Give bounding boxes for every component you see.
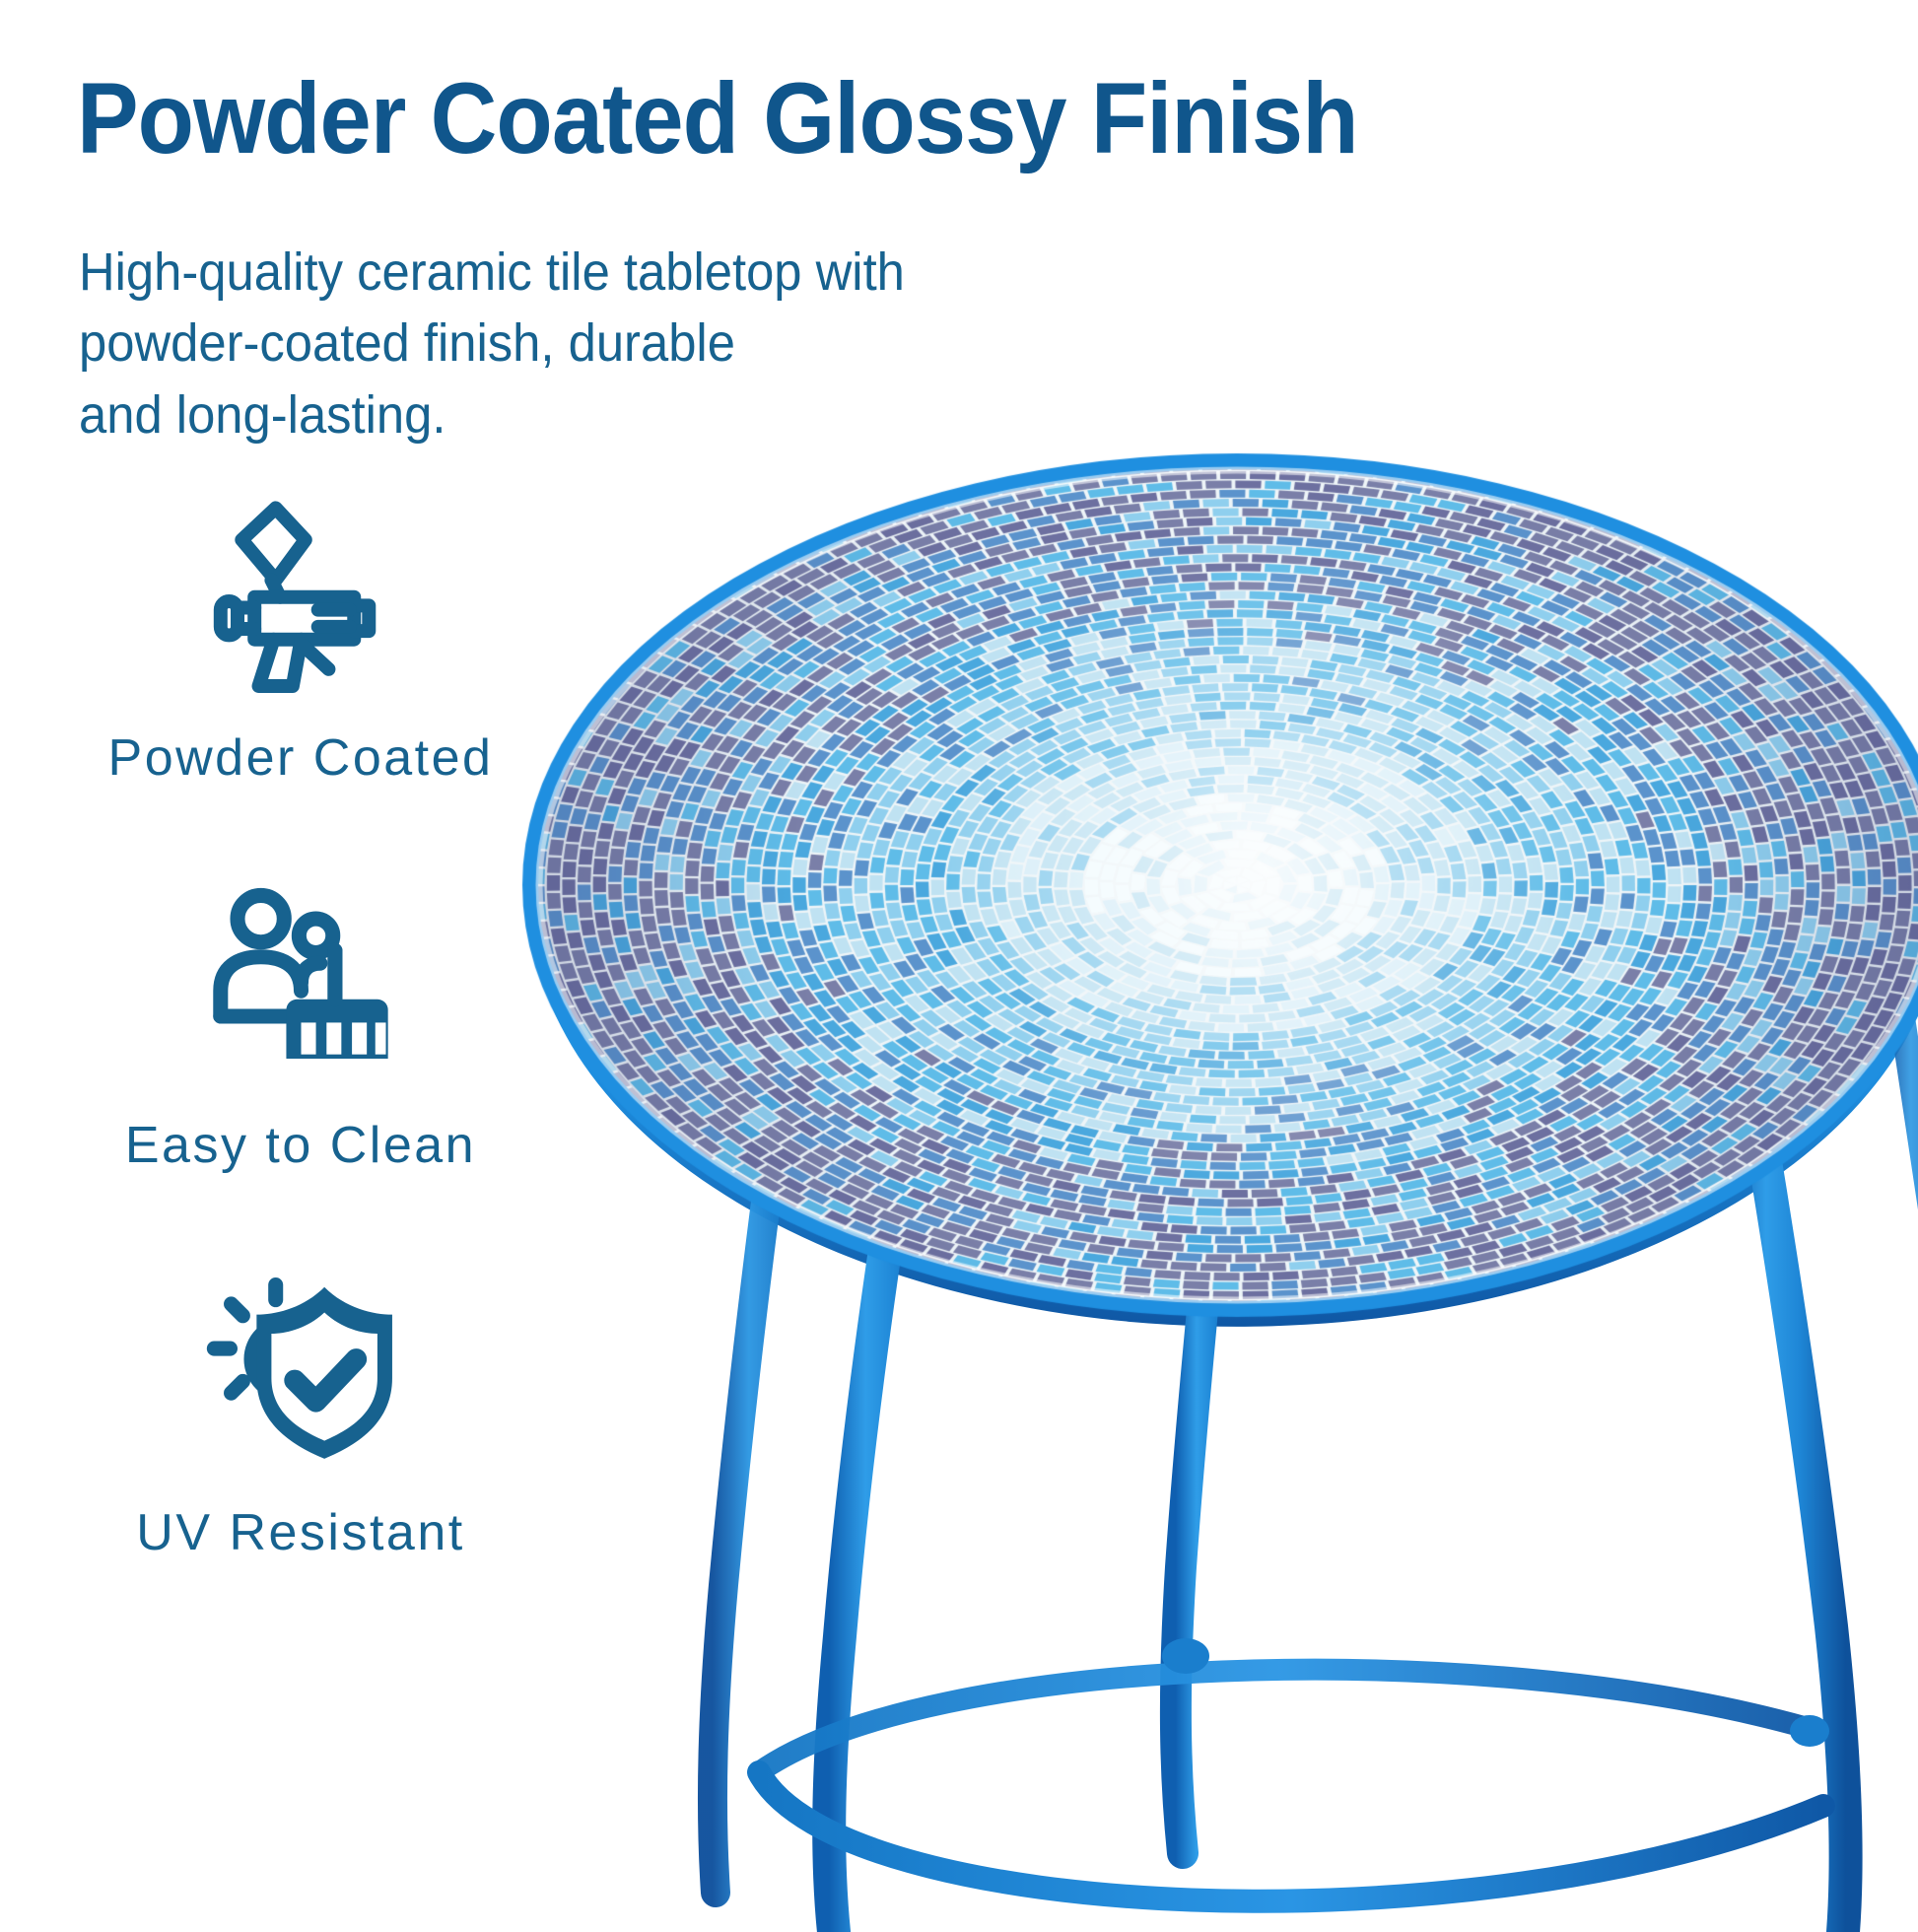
sun-shield-check-icon: [195, 1268, 407, 1470]
feature-item-powder-coated: Powder Coated: [69, 493, 532, 788]
feature-item-easy-to-clean: Easy to Clean: [69, 880, 532, 1175]
mosaic-tabletop: [513, 355, 1918, 1932]
cleaning-brush-icon: [195, 880, 407, 1082]
feature-item-uv-resistant: UV Resistant: [69, 1268, 532, 1562]
feature-label: Powder Coated: [108, 728, 494, 788]
feature-label: UV Resistant: [136, 1503, 464, 1562]
spray-gun-icon: [195, 493, 407, 695]
page-title: Powder Coated Glossy Finish: [77, 67, 1358, 170]
feature-label: Easy to Clean: [125, 1116, 476, 1175]
feature-list: Powder Coated: [69, 493, 532, 1655]
product-image: [513, 355, 1918, 1932]
